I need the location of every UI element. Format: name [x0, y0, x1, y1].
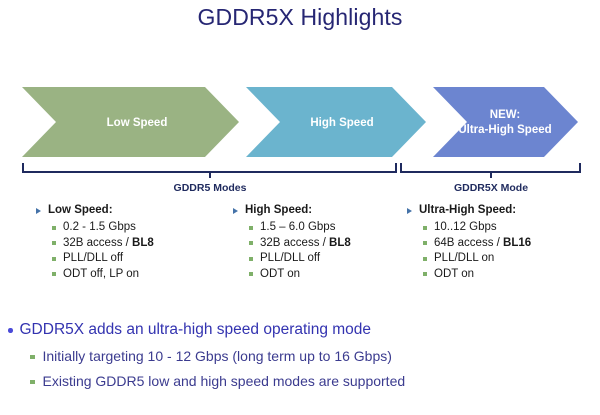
page-title: GDDR5X Highlights: [0, 4, 600, 31]
list-item: 64B access / BL16: [423, 236, 600, 252]
spec-column-high-speed: High Speed: 1.5 – 6.0 Gbps 32B access / …: [215, 203, 395, 308]
bracket-band: GDDR5 Modes GDDR5X Mode: [0, 160, 600, 202]
spec-list-ultra-high-speed: 10..12 Gbps 64B access / BL16 PLL/DLL on…: [407, 220, 600, 282]
square-bullet-icon: [52, 241, 56, 245]
spec-column-high-speed-heading: High Speed:: [233, 203, 395, 217]
bracket-gddr5x-mode-label: GDDR5X Mode: [454, 182, 528, 194]
list-item: ODT on: [249, 267, 395, 283]
list-item: 32B access / BL8: [52, 236, 215, 252]
square-bullet-icon: [249, 226, 253, 230]
triangle-bullet-icon: [36, 208, 41, 214]
spec-list-high-speed: 1.5 – 6.0 Gbps 32B access / BL8 PLL/DLL …: [233, 220, 395, 282]
square-bullet-icon: [249, 257, 253, 261]
chevron-band: Low Speed High Speed NEW: Ultra-High Spe…: [0, 85, 600, 161]
summary-bullets: GDDR5X adds an ultra-high speed operatin…: [0, 320, 600, 397]
spec-item-emphasis: BL8: [132, 237, 154, 249]
spec-heading-label: High Speed:: [245, 203, 312, 217]
summary-sub-text: Existing GDDR5 low and high speed modes …: [43, 372, 406, 391]
spec-item-text: PLL/DLL on: [434, 252, 494, 264]
chevron-ultra-high-speed[interactable]: [433, 87, 578, 157]
spec-item-text: 0.2 - 1.5 Gbps: [63, 221, 136, 233]
spec-list-low-speed: 0.2 - 1.5 Gbps 32B access / BL8 PLL/DLL …: [36, 220, 215, 282]
round-bullet-icon: [8, 328, 13, 333]
square-bullet-icon: [423, 257, 427, 261]
bracket-gddr5x-mode: [401, 163, 580, 172]
spec-column-ultra-high-speed: Ultra-High Speed: 10..12 Gbps 64B access…: [395, 203, 600, 308]
square-bullet-icon: [249, 272, 253, 276]
spec-item-text: 1.5 – 6.0 Gbps: [260, 221, 335, 233]
triangle-bullet-icon: [233, 208, 238, 214]
square-bullet-icon: [423, 241, 427, 245]
spec-column-low-speed-heading: Low Speed:: [36, 203, 215, 217]
spec-column-ultra-high-speed-heading: Ultra-High Speed:: [407, 203, 600, 217]
spec-item-text: ODT on: [434, 268, 474, 280]
summary-main-bullet: GDDR5X adds an ultra-high speed operatin…: [0, 320, 600, 340]
square-bullet-icon: [52, 272, 56, 276]
spec-item-text: PLL/DLL off: [260, 252, 320, 264]
list-item: ODT on: [423, 267, 600, 283]
bracket-gddr5-modes-label: GDDR5 Modes: [174, 182, 247, 194]
list-item: PLL/DLL off: [52, 251, 215, 267]
chevron-ultra-high-speed-label-line2: Ultra-High Speed: [458, 124, 551, 136]
chevron-low-speed-label: Low Speed: [107, 117, 168, 129]
spec-item-text: ODT on: [260, 268, 300, 280]
square-bullet-icon: [423, 272, 427, 276]
list-item: ODT off, LP on: [52, 267, 215, 283]
spec-heading-label: Ultra-High Speed:: [419, 203, 516, 217]
spec-columns: Low Speed: 0.2 - 1.5 Gbps 32B access / B…: [0, 203, 600, 308]
square-bullet-icon: [30, 380, 35, 385]
square-bullet-icon: [52, 226, 56, 230]
spec-item-text: ODT off, LP on: [63, 268, 139, 280]
spec-item-emphasis: BL16: [503, 237, 531, 249]
square-bullet-icon: [423, 226, 427, 230]
summary-sub-text: Initially targeting 10 - 12 Gbps (long t…: [43, 347, 392, 366]
summary-sub-bullet: Existing GDDR5 low and high speed modes …: [0, 372, 600, 391]
list-item: 32B access / BL8: [249, 236, 395, 252]
list-item: 10..12 Gbps: [423, 220, 600, 236]
square-bullet-icon: [249, 241, 253, 245]
list-item: 1.5 – 6.0 Gbps: [249, 220, 395, 236]
square-bullet-icon: [52, 257, 56, 261]
triangle-bullet-icon: [407, 208, 412, 214]
spec-item-emphasis: BL8: [329, 237, 351, 249]
chevron-high-speed-label: High Speed: [310, 117, 373, 129]
square-bullet-icon: [30, 355, 35, 360]
chevron-ultra-high-speed-label-line1: NEW:: [490, 109, 520, 121]
spec-item-text: 32B access /: [260, 237, 329, 249]
summary-main-text: GDDR5X adds an ultra-high speed operatin…: [20, 320, 372, 340]
summary-sub-bullet: Initially targeting 10 - 12 Gbps (long t…: [0, 347, 600, 366]
spec-item-text: 32B access /: [63, 237, 132, 249]
spec-item-text: 10..12 Gbps: [434, 221, 497, 233]
list-item: PLL/DLL off: [249, 251, 395, 267]
spec-item-text: PLL/DLL off: [63, 252, 123, 264]
bracket-gddr5-modes: [23, 163, 396, 172]
spec-item-text: 64B access /: [434, 237, 503, 249]
slide-canvas: GDDR5X Highlights Low Speed High Speed N…: [0, 0, 600, 415]
spec-heading-label: Low Speed:: [48, 203, 113, 217]
list-item: PLL/DLL on: [423, 251, 600, 267]
list-item: 0.2 - 1.5 Gbps: [52, 220, 215, 236]
spec-column-low-speed: Low Speed: 0.2 - 1.5 Gbps 32B access / B…: [0, 203, 215, 308]
